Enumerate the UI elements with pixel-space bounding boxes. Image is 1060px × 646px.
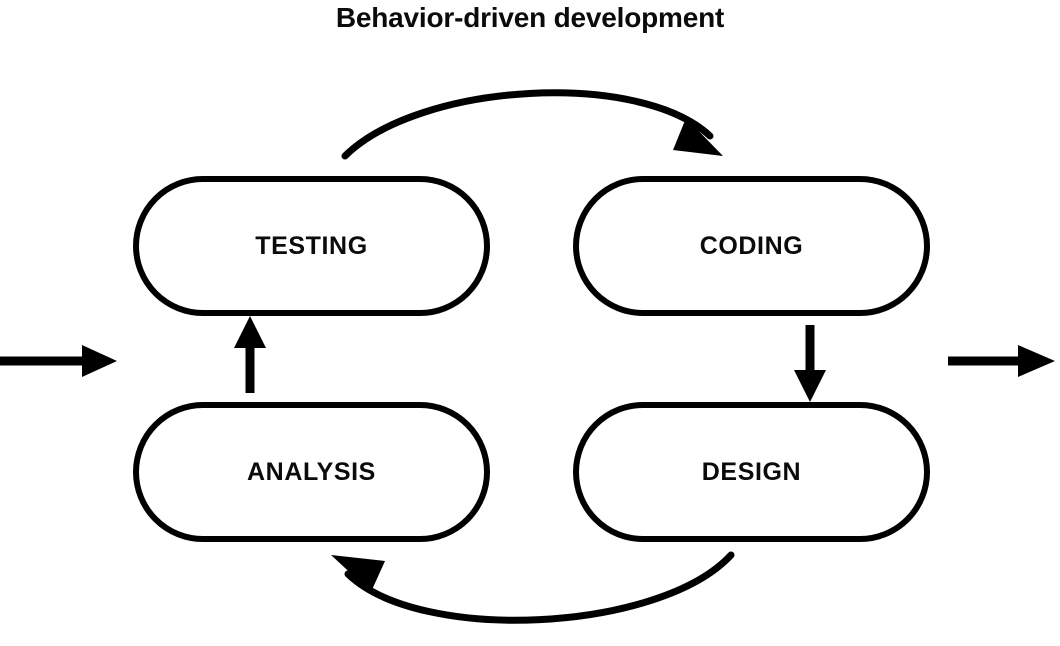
bdd-cycle-diagram: Behavior-driven development	[0, 0, 1060, 646]
page-title: Behavior-driven development	[0, 2, 1060, 34]
stage-label-testing: TESTING	[255, 232, 368, 261]
stage-node-coding[interactable]: CODING	[573, 176, 930, 316]
analysis-to-testing-arrow	[234, 316, 266, 393]
process-entry-arrow	[0, 345, 117, 377]
stage-node-testing[interactable]: TESTING	[133, 176, 490, 316]
design-to-analysis-arrow	[331, 555, 731, 620]
coding-to-design-arrow	[794, 325, 826, 402]
stage-node-analysis[interactable]: ANALYSIS	[133, 402, 490, 542]
stage-label-coding: CODING	[700, 232, 804, 261]
stage-label-design: DESIGN	[702, 458, 801, 487]
stage-node-design[interactable]: DESIGN	[573, 402, 930, 542]
connector-layer	[0, 0, 1060, 646]
stage-label-analysis: ANALYSIS	[247, 458, 376, 487]
process-exit-arrow	[948, 345, 1055, 377]
testing-to-coding-arrow	[345, 93, 723, 156]
